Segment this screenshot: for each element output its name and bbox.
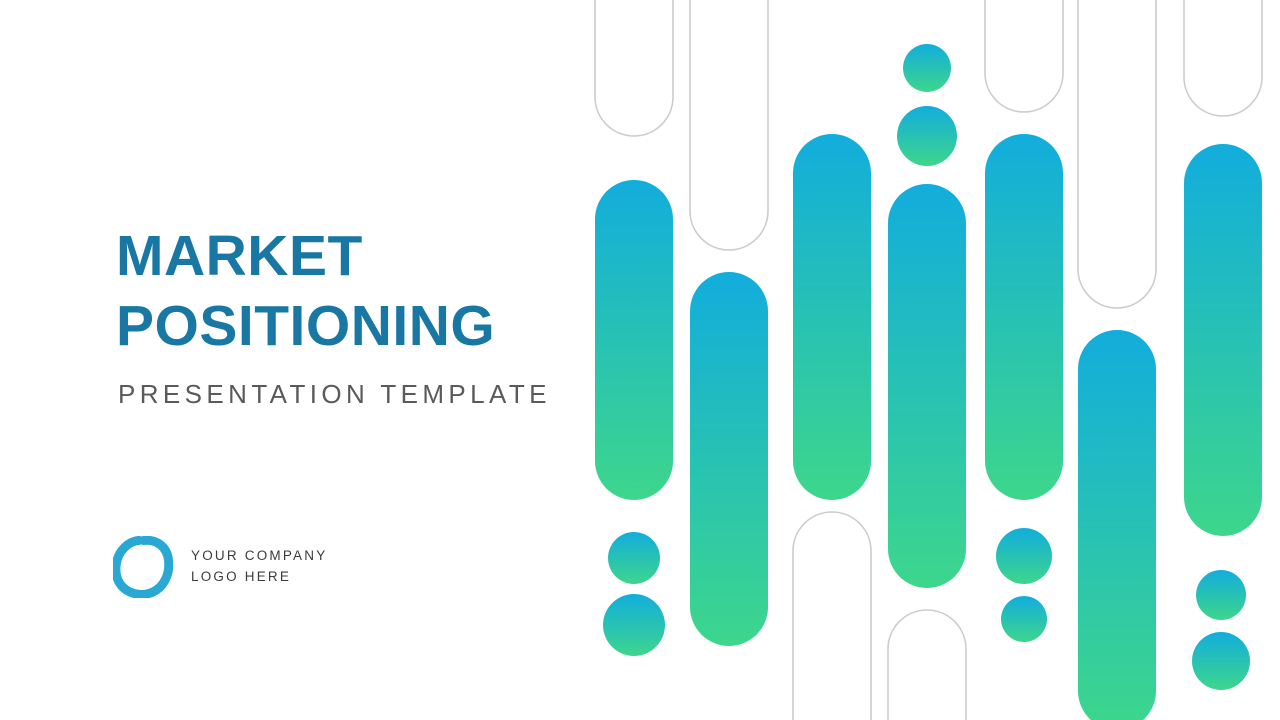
bar-c1 — [595, 180, 673, 500]
circle-c4-top-a — [903, 44, 951, 92]
outline-c2-top — [690, 0, 768, 250]
outline-c3-bottom — [793, 512, 871, 720]
bar-c2 — [690, 272, 768, 646]
company-logo-icon — [113, 536, 173, 598]
outline-c6-top — [1078, 0, 1156, 308]
circle-c1-a — [608, 532, 660, 584]
title-block: MARKET POSITIONING PRESENTATION TEMPLATE — [116, 222, 576, 410]
bar-c5 — [985, 134, 1063, 500]
circle-c7-a — [1196, 570, 1246, 620]
outline-c1-top — [595, 0, 673, 136]
circle-c5-a — [996, 528, 1052, 584]
bar-c7 — [1184, 144, 1262, 536]
company-logo-text: YOUR COMPANY LOGO HERE — [191, 546, 327, 588]
filled-capsule-group — [595, 44, 1262, 720]
bar-c4 — [888, 184, 966, 588]
circle-c1-b — [603, 594, 665, 656]
page-title: MARKET POSITIONING — [116, 222, 576, 361]
outline-c5-top — [985, 0, 1063, 112]
outline-c4-bottom — [888, 610, 966, 720]
circle-c7-b — [1192, 632, 1250, 690]
bar-c6 — [1078, 330, 1156, 720]
bar-c3 — [793, 134, 871, 500]
circle-c4-top-b — [897, 106, 957, 166]
company-logo-block: YOUR COMPANY LOGO HERE — [113, 536, 327, 598]
presentation-slide: MARKET POSITIONING PRESENTATION TEMPLATE… — [0, 0, 1280, 720]
page-subtitle: PRESENTATION TEMPLATE — [118, 379, 576, 410]
circle-c5-b — [1001, 596, 1047, 642]
outline-c7-top — [1184, 0, 1262, 116]
